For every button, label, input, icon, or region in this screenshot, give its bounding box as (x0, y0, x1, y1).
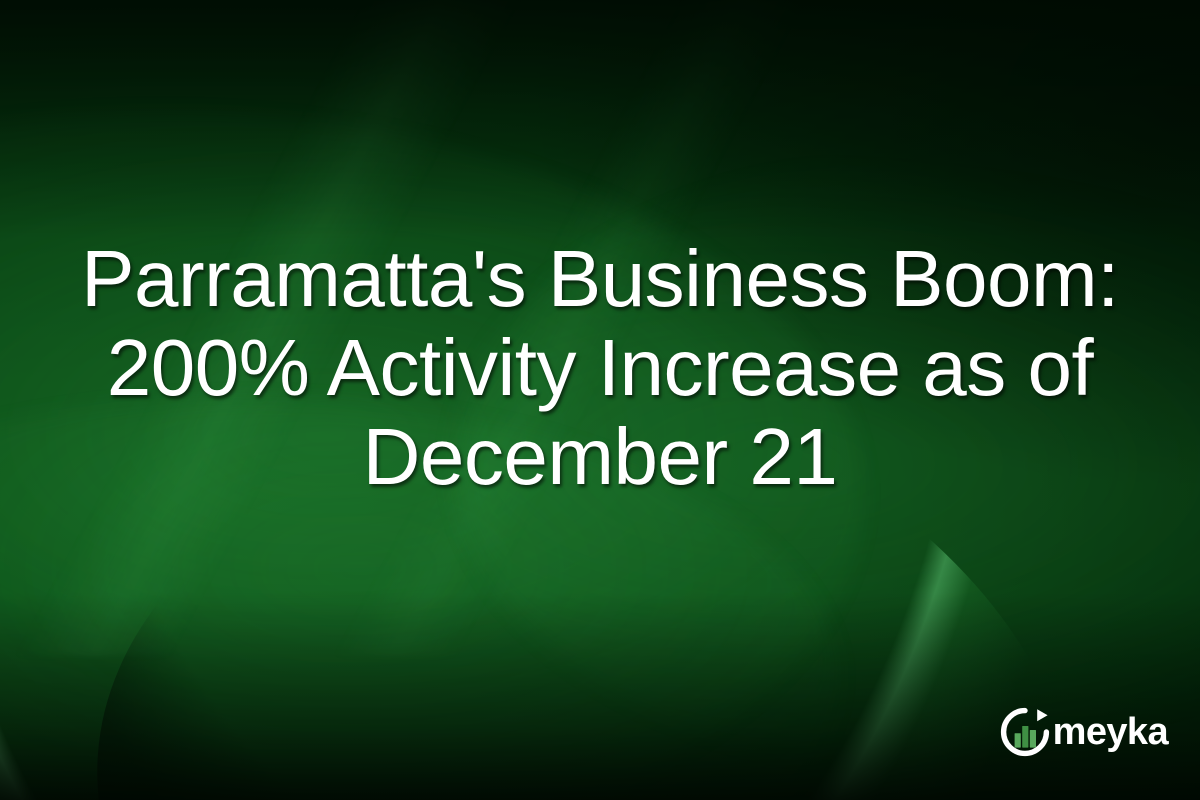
brand-logo: meyka (999, 706, 1170, 758)
page-title: Parramatta's Business Boom: 200% Activit… (0, 234, 1200, 501)
poster-canvas: Parramatta's Business Boom: 200% Activit… (0, 0, 1200, 800)
brand-wordmark: meyka (1053, 713, 1168, 751)
circular-arrow-bar-chart-icon (999, 706, 1051, 758)
background-arc-primary (0, 0, 1200, 217)
